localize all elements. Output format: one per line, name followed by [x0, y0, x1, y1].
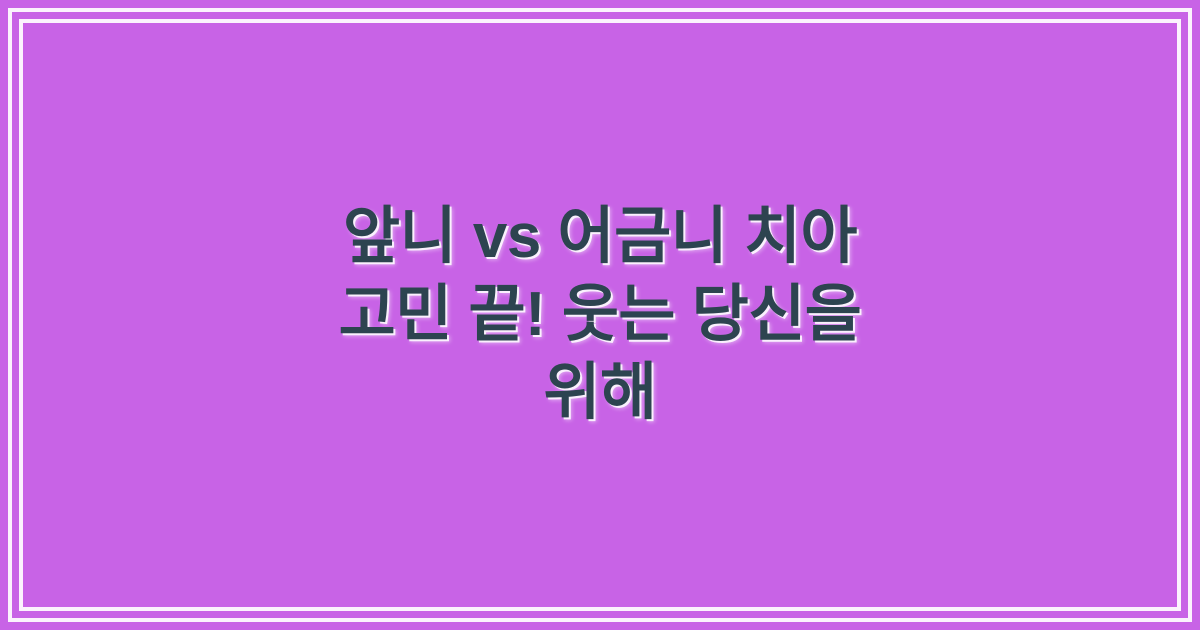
page-title: 앞니 vs 어금니 치아 고민 끝! 웃는 당신을 위해	[300, 198, 900, 432]
title-line-2: 고민 끝! 웃는 당신을	[300, 276, 900, 354]
thumbnail-canvas: 앞니 vs 어금니 치아 고민 끝! 웃는 당신을 위해	[0, 0, 1200, 630]
title-line-3: 위해	[300, 354, 900, 432]
title-line-1: 앞니 vs 어금니 치아	[300, 198, 900, 276]
title-block: 앞니 vs 어금니 치아 고민 끝! 웃는 당신을 위해	[280, 198, 920, 432]
